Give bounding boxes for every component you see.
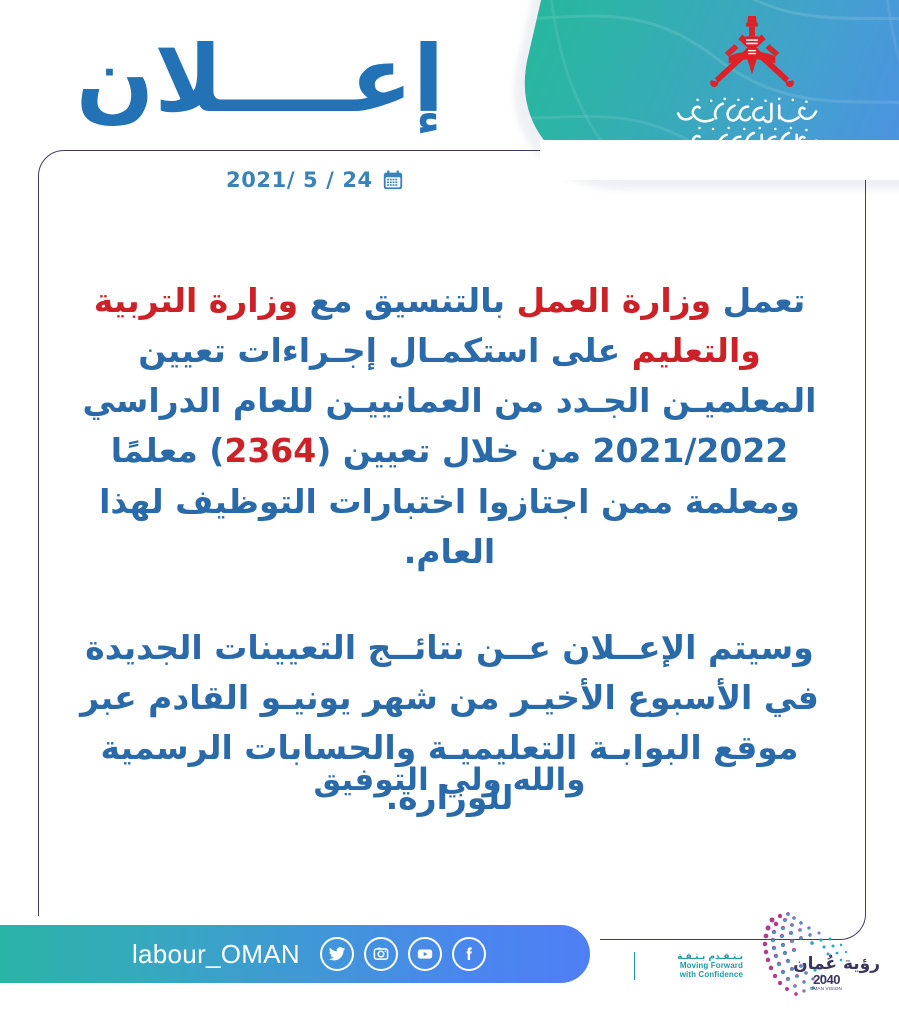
vision-swirl-graphic: رؤية عُمان 2040 OMAN VISION	[742, 906, 882, 1010]
vision-tagline-en-2: with Confidence	[635, 971, 743, 980]
twitter-icon[interactable]	[320, 937, 354, 971]
vision-brand-ar: رؤية عُمان	[793, 954, 880, 974]
body-text: بالتنسيق مع	[298, 281, 516, 320]
publish-date-text: 2021/ 5 / 24	[226, 168, 373, 192]
announcement-poster: إعــــلان 2021/ 5 / 24 تعمل وزارة العمل …	[0, 0, 899, 1024]
calendar-icon	[382, 169, 404, 191]
vision-brand-sub: OMAN VISION	[810, 986, 842, 991]
oman-vision-2040-logo: نـتـقـدم بـثـقـة Moving Forward with Con…	[634, 906, 882, 1010]
highlight-text: 2364	[224, 431, 316, 470]
vision-brand-year: 2040	[813, 972, 840, 987]
facebook-icon[interactable]	[452, 937, 486, 971]
social-handle: labour_OMAN	[132, 939, 300, 970]
page-title: إعــــلان	[0, 34, 520, 126]
social-icon-group	[320, 937, 486, 971]
announcement-paragraph-1: تعمل وزارة العمل بالتنسيق مع وزارة الترب…	[62, 276, 837, 577]
frame-mask-top	[540, 140, 899, 180]
instagram-icon[interactable]	[364, 937, 398, 971]
social-bar: labour_OMAN	[0, 925, 590, 983]
highlight-text: وزارة العمل	[516, 281, 711, 320]
body-text: تعمل	[711, 281, 805, 320]
youtube-icon[interactable]	[408, 937, 442, 971]
announcement-closing: والله ولي التوفيق	[62, 762, 837, 798]
publish-date: 2021/ 5 / 24	[226, 168, 404, 192]
vision-tagline: نـتـقـدم بـثـقـة Moving Forward with Con…	[634, 952, 743, 980]
